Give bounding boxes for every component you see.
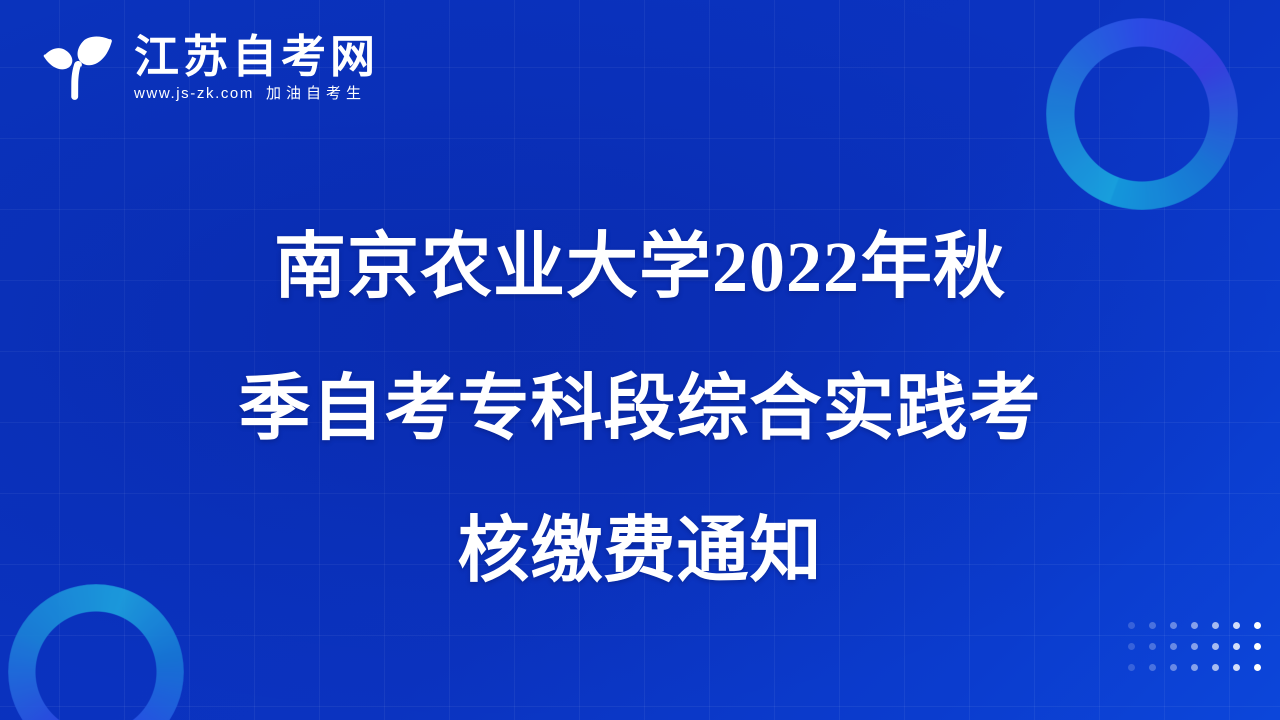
logo-slogan: 加油自考生 [266, 82, 366, 103]
logo-text-block: 江苏自考网 www.js-zk.com 加油自考生 [134, 33, 379, 103]
logo-url: www.js-zk.com [134, 85, 254, 102]
site-logo[interactable]: 江苏自考网 www.js-zk.com 加油自考生 [36, 26, 379, 110]
dot-grid-dot [1254, 643, 1261, 650]
dot-grid-dot [1212, 664, 1219, 671]
dot-grid-dot [1149, 664, 1156, 671]
dot-grid-dot [1149, 622, 1156, 629]
dot-grid-dot [1212, 622, 1219, 629]
dot-grid-dot [1128, 643, 1135, 650]
dot-grid-dot [1212, 643, 1219, 650]
dot-grid-dot [1128, 664, 1135, 671]
dot-grid-dot [1170, 664, 1177, 671]
dot-grid-dot [1170, 643, 1177, 650]
headline-line-3: 核缴费通知 [120, 480, 1160, 622]
headline-line-1: 南京农业大学2022年秋 [120, 196, 1160, 338]
dot-grid-dot [1191, 622, 1198, 629]
dot-grid-dot [1254, 622, 1261, 629]
decorative-dot-grid [1121, 615, 1268, 678]
dot-grid-dot [1191, 664, 1198, 671]
dot-grid-dot [1191, 643, 1198, 650]
dot-grid-dot [1170, 622, 1177, 629]
dot-grid-dot [1233, 643, 1240, 650]
dot-grid-dot [1128, 622, 1135, 629]
dot-grid-dot [1254, 664, 1261, 671]
page-title: 南京农业大学2022年秋 季自考专科段综合实践考 核缴费通知 [0, 196, 1280, 622]
logo-site-name: 江苏自考网 [134, 33, 379, 80]
sprout-leaf-icon [36, 26, 120, 110]
dot-grid-dot [1149, 643, 1156, 650]
dot-grid-dot [1233, 622, 1240, 629]
poster-banner: 江苏自考网 www.js-zk.com 加油自考生 南京农业大学2022年秋 季… [0, 0, 1280, 720]
decorative-ring-top-right-icon [1046, 18, 1238, 210]
headline-line-2: 季自考专科段综合实践考 [120, 338, 1160, 480]
logo-tagline: www.js-zk.com 加油自考生 [134, 82, 379, 103]
dot-grid-dot [1233, 664, 1240, 671]
